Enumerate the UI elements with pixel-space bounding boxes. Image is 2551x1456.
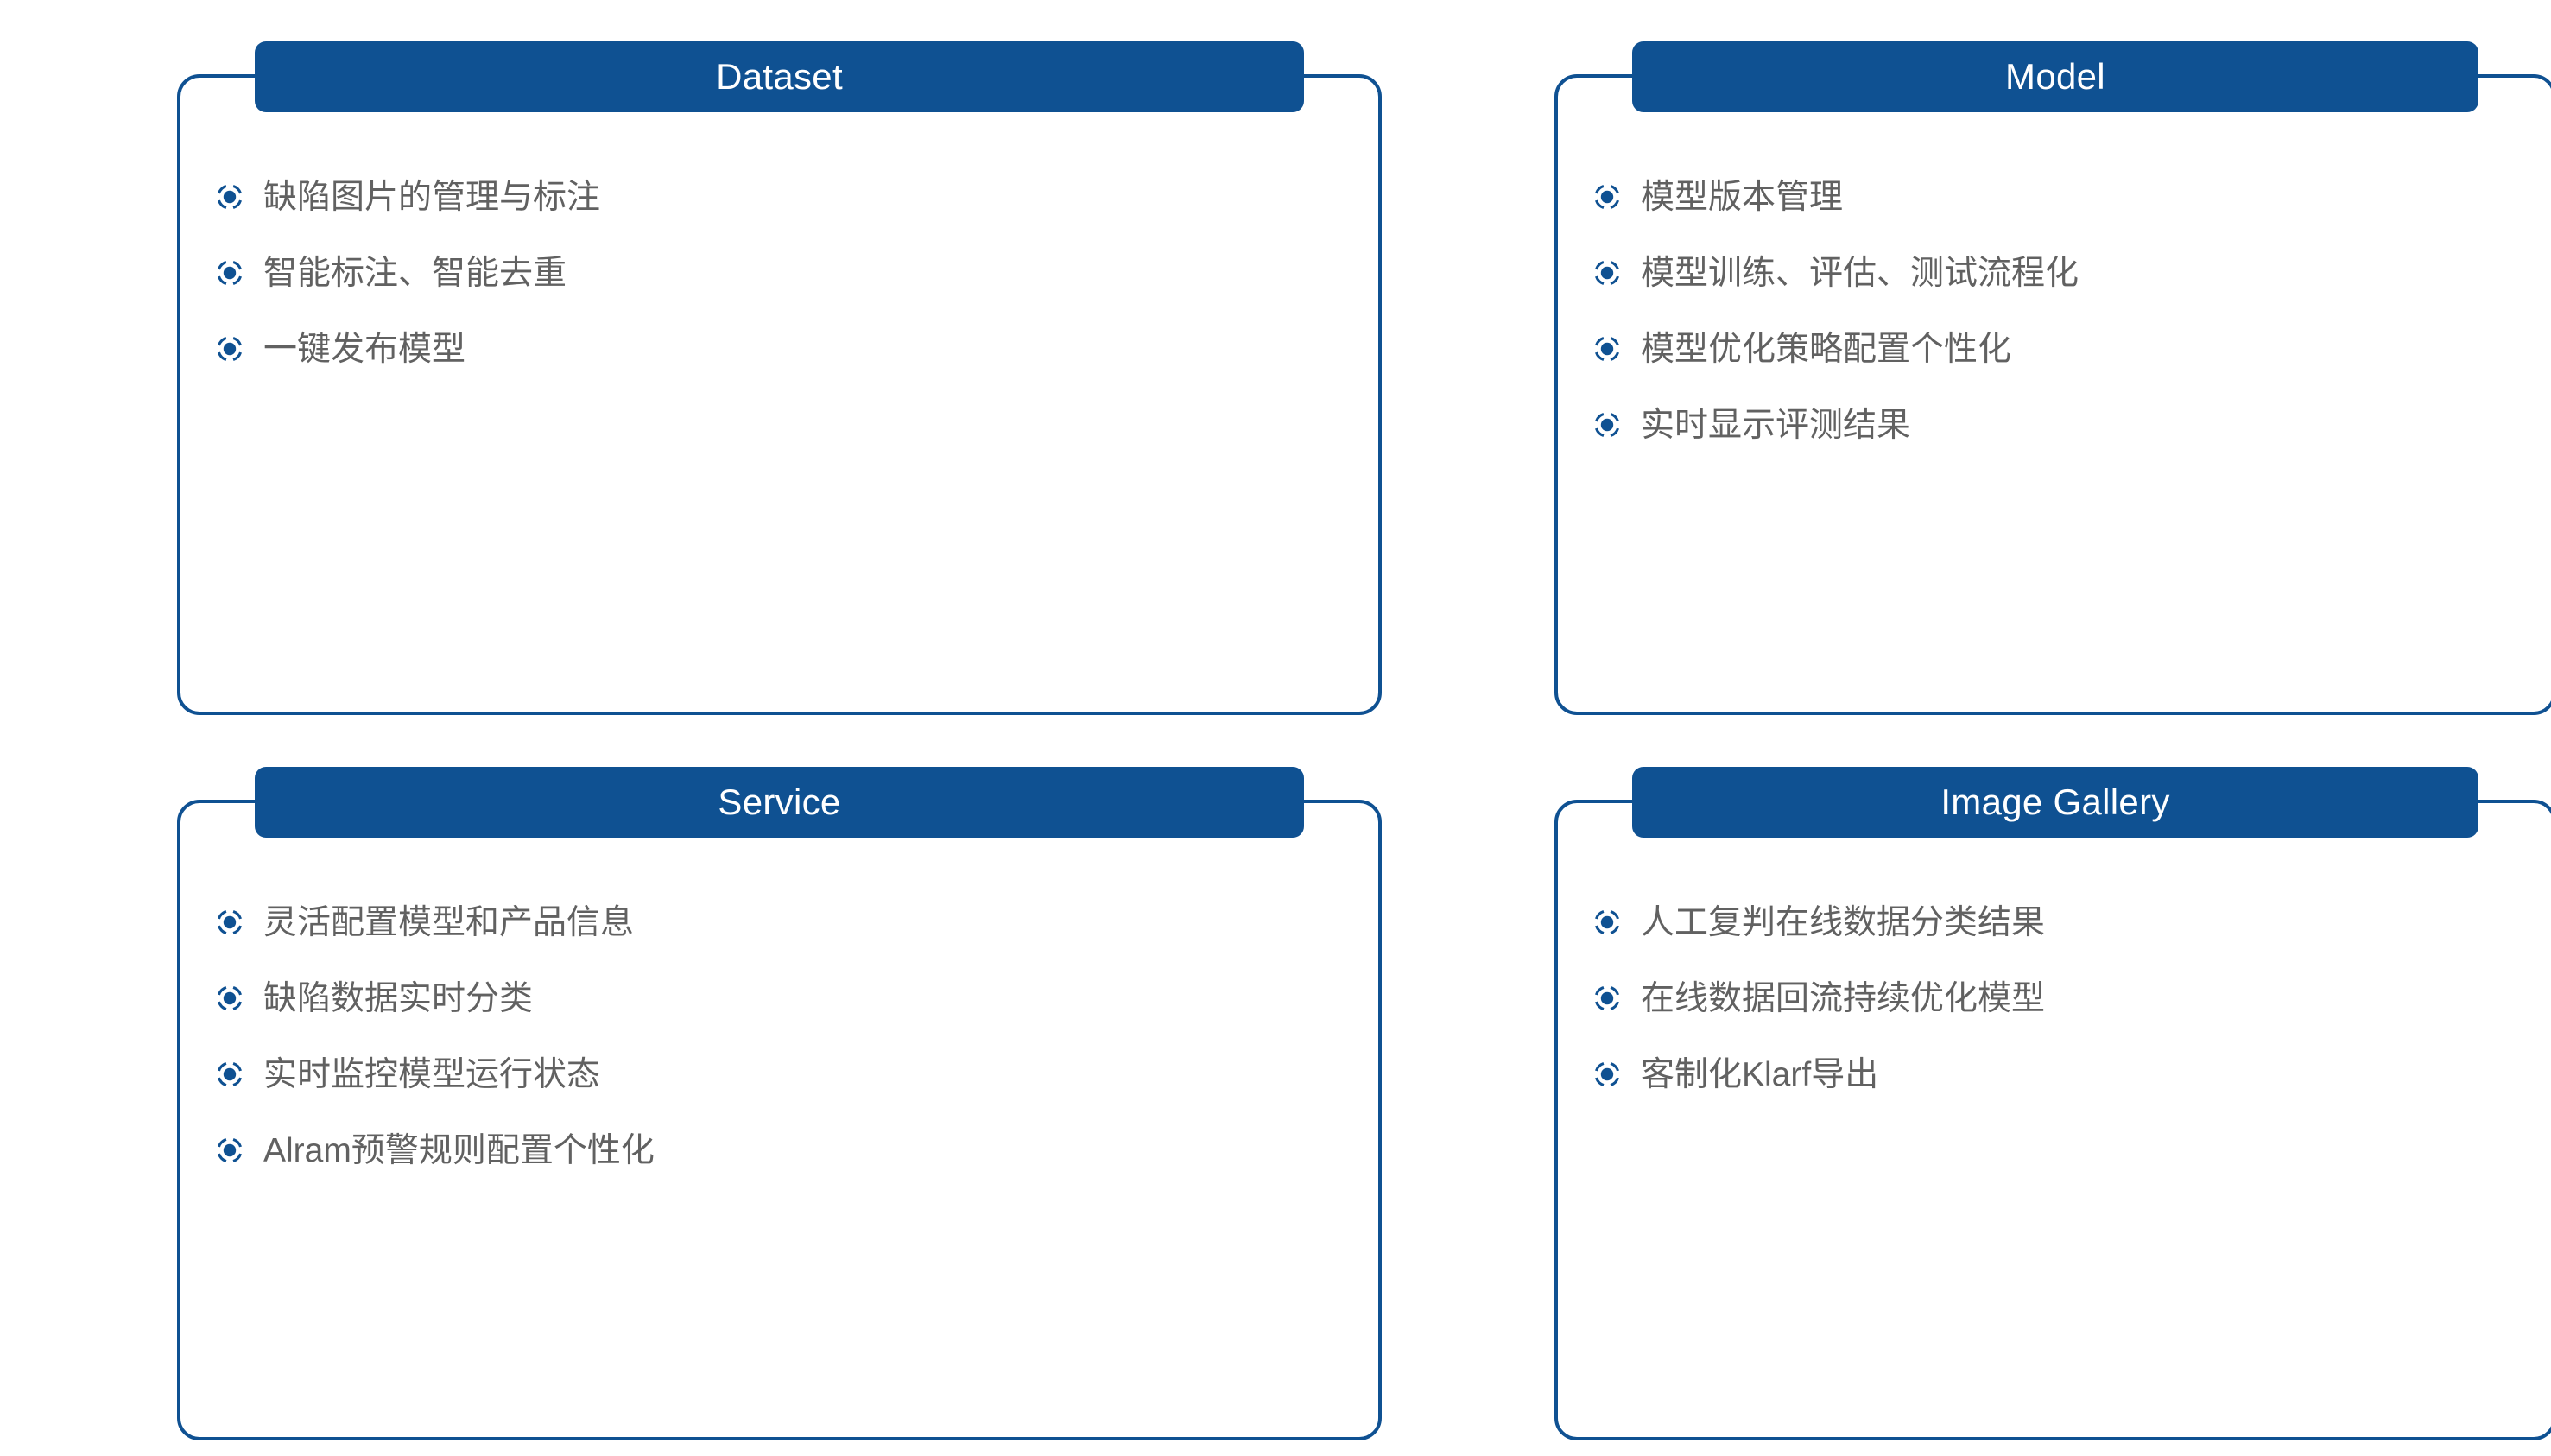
- feature-item: 实时显示评测结果: [1592, 399, 2530, 451]
- feature-card-dataset: Dataset缺陷图片的管理与标注智能标注、智能去重一键发布模型: [177, 41, 1382, 715]
- feature-item: 在线数据回流持续优化模型: [1592, 972, 2530, 1024]
- target-dot-icon: [1592, 258, 1622, 288]
- card-title: Dataset: [716, 56, 843, 98]
- card-title: Image Gallery: [1940, 782, 2169, 823]
- target-dot-icon: [1592, 410, 1622, 440]
- target-dot-icon: [215, 334, 244, 364]
- feature-card-image-gallery: Image Gallery人工复判在线数据分类结果在线数据回流持续优化模型客制化…: [1554, 767, 2551, 1440]
- feature-item-label: Alram预警规则配置个性化: [263, 1134, 655, 1168]
- target-dot-icon: [1592, 182, 1622, 212]
- feature-item-label: 客制化Klarf导出: [1641, 1058, 1878, 1092]
- feature-item: 灵活配置模型和产品信息: [215, 896, 1356, 948]
- feature-item-label: 缺陷图片的管理与标注: [263, 180, 600, 214]
- feature-item: 实时监控模型运行状态: [215, 1048, 1356, 1100]
- feature-item: 缺陷数据实时分类: [215, 972, 1356, 1024]
- card-header-service: Service: [255, 767, 1304, 838]
- target-dot-icon: [215, 258, 244, 288]
- target-dot-icon: [1592, 334, 1622, 364]
- feature-list-dataset: 缺陷图片的管理与标注智能标注、智能去重一键发布模型: [215, 171, 1356, 375]
- feature-item: 智能标注、智能去重: [215, 247, 1356, 299]
- feature-item-label: 模型优化策略配置个性化: [1641, 332, 2011, 366]
- feature-item: Alram预警规则配置个性化: [215, 1124, 1356, 1176]
- feature-item: 客制化Klarf导出: [1592, 1048, 2530, 1100]
- feature-item: 缺陷图片的管理与标注: [215, 171, 1356, 223]
- feature-item-label: 一键发布模型: [263, 332, 465, 366]
- feature-item-label: 灵活配置模型和产品信息: [263, 906, 634, 940]
- feature-item: 模型版本管理: [1592, 171, 2530, 223]
- card-title: Model: [2005, 56, 2105, 98]
- feature-item-label: 智能标注、智能去重: [263, 256, 567, 290]
- feature-card-grid: Dataset缺陷图片的管理与标注智能标注、智能去重一键发布模型Model模型版…: [0, 0, 2551, 1456]
- target-dot-icon: [1592, 984, 1622, 1013]
- target-dot-icon: [215, 984, 244, 1013]
- target-dot-icon: [215, 908, 244, 937]
- feature-item: 模型训练、评估、测试流程化: [1592, 247, 2530, 299]
- card-header-model: Model: [1632, 41, 2478, 112]
- feature-item-label: 模型训练、评估、测试流程化: [1641, 256, 2079, 290]
- feature-item-label: 模型版本管理: [1641, 180, 1843, 214]
- target-dot-icon: [215, 1060, 244, 1089]
- feature-item-label: 人工复判在线数据分类结果: [1641, 906, 2045, 940]
- feature-card-service: Service灵活配置模型和产品信息缺陷数据实时分类实时监控模型运行状态Alra…: [177, 767, 1382, 1440]
- target-dot-icon: [1592, 908, 1622, 937]
- feature-item-label: 在线数据回流持续优化模型: [1641, 982, 2045, 1016]
- card-header-image-gallery: Image Gallery: [1632, 767, 2478, 838]
- feature-item-label: 缺陷数据实时分类: [263, 982, 533, 1016]
- feature-item: 模型优化策略配置个性化: [1592, 323, 2530, 375]
- feature-item-label: 实时显示评测结果: [1641, 408, 1910, 442]
- feature-card-model: Model模型版本管理模型训练、评估、测试流程化模型优化策略配置个性化实时显示评…: [1554, 41, 2551, 715]
- feature-item: 一键发布模型: [215, 323, 1356, 375]
- feature-list-service: 灵活配置模型和产品信息缺陷数据实时分类实时监控模型运行状态Alram预警规则配置…: [215, 896, 1356, 1176]
- card-title: Service: [718, 782, 840, 823]
- feature-list-image-gallery: 人工复判在线数据分类结果在线数据回流持续优化模型客制化Klarf导出: [1592, 896, 2530, 1100]
- feature-list-model: 模型版本管理模型训练、评估、测试流程化模型优化策略配置个性化实时显示评测结果: [1592, 171, 2530, 451]
- target-dot-icon: [1592, 1060, 1622, 1089]
- feature-item: 人工复判在线数据分类结果: [1592, 896, 2530, 948]
- target-dot-icon: [215, 182, 244, 212]
- feature-item-label: 实时监控模型运行状态: [263, 1058, 600, 1092]
- card-header-dataset: Dataset: [255, 41, 1304, 112]
- target-dot-icon: [215, 1136, 244, 1165]
